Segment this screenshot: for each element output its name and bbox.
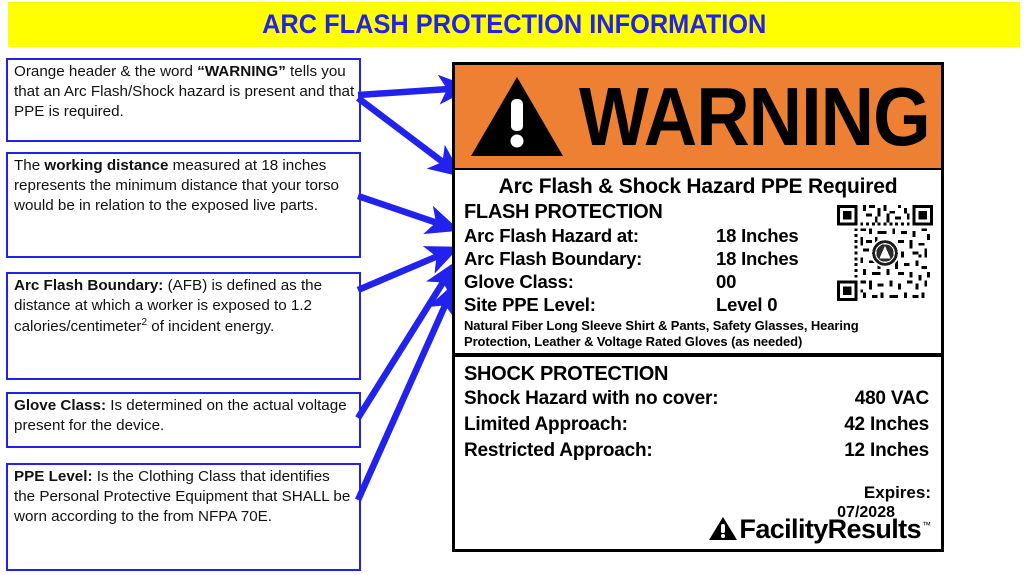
callout-bold-warning: “WARNING” xyxy=(197,63,286,80)
shock-row-key: Shock Hazard with no cover: xyxy=(464,386,855,412)
flash-row-key: Arc Flash Hazard at: xyxy=(464,224,716,247)
shock-row-value: 42 Inches xyxy=(844,412,929,438)
arrow-to-boundary xyxy=(358,250,452,290)
arrow-to-glove-class xyxy=(358,268,452,418)
shock-row: Restricted Approach: 12 Inches xyxy=(464,438,929,464)
superscript-two: 2 xyxy=(141,317,147,328)
brand-row: FacilityResults ™ xyxy=(708,516,931,543)
flash-row-key: Glove Class: xyxy=(464,270,716,293)
callout-text: Arc Flash Boundary: (AFB) is defined as … xyxy=(14,277,322,335)
shock-section-title: SHOCK PROTECTION xyxy=(464,363,929,386)
callout-text: PPE Level: Is the Clothing Class that id… xyxy=(14,468,350,525)
shock-row: Shock Hazard with no cover: 480 VAC xyxy=(464,386,929,412)
warning-triangle-icon xyxy=(469,75,565,159)
page-title-banner: ARC FLASH PROTECTION INFORMATION xyxy=(8,2,1020,47)
callout-text: Orange header & the word “WARNING” tells… xyxy=(14,63,354,120)
callout-ppe-level: PPE Level: Is the Clothing Class that id… xyxy=(6,463,361,571)
callout-text: Glove Class: Is determined on the actual… xyxy=(14,397,347,434)
arc-flash-warning-label: WARNING Arc Flash & Shock Hazard PPE Req… xyxy=(452,62,944,552)
shock-protection-block: SHOCK PROTECTION Shock Hazard with no co… xyxy=(455,357,941,464)
expires-label: Expires: xyxy=(708,483,931,503)
arrow-to-orange-header xyxy=(358,88,464,95)
callout-bold-working-distance: working distance xyxy=(44,157,168,174)
shock-row-value: 480 VAC xyxy=(855,386,929,412)
arrow-to-subheading xyxy=(358,98,456,172)
label-footer: Expires: 07/2028 FacilityResults ™ xyxy=(708,483,931,543)
callout-text: The working distance measured at 18 inch… xyxy=(14,157,339,214)
label-warning-header: WARNING xyxy=(455,65,941,170)
label-subheading: Arc Flash & Shock Hazard PPE Required xyxy=(455,170,941,201)
warning-word: WARNING xyxy=(579,75,930,158)
callout-orange-header: Orange header & the word “WARNING” tells… xyxy=(6,58,361,142)
callout-bold-glove-class: Glove Class: xyxy=(14,397,106,414)
arrow-to-hazard-at xyxy=(358,196,452,228)
shock-row-key: Restricted Approach: xyxy=(464,438,844,464)
callout-bold-afb: Arc Flash Boundary: xyxy=(14,277,163,294)
callout-bold-ppe-level: PPE Level: xyxy=(14,468,93,485)
flash-row-key: Site PPE Level: xyxy=(464,293,716,316)
shock-row-key: Limited Approach: xyxy=(464,412,844,438)
page-title: ARC FLASH PROTECTION INFORMATION xyxy=(262,9,766,40)
qr-code-icon xyxy=(837,205,933,301)
shock-row-value: 12 Inches xyxy=(844,438,929,464)
callout-arc-flash-boundary: Arc Flash Boundary: (AFB) is defined as … xyxy=(6,272,361,380)
flash-protection-block: FLASH PROTECTION Arc Flash Hazard at: 18… xyxy=(455,201,941,357)
shock-row: Limited Approach: 42 Inches xyxy=(464,412,929,438)
flash-ppe-note: Natural Fiber Long Sleeve Shirt & Pants,… xyxy=(464,318,933,349)
brand-trademark: ™ xyxy=(922,521,931,530)
callout-working-distance: The working distance measured at 18 inch… xyxy=(6,152,361,258)
flash-row-key: Arc Flash Boundary: xyxy=(464,247,716,270)
warning-triangle-icon xyxy=(708,516,738,542)
brand-name: FacilityResults xyxy=(739,516,921,543)
arrow-to-ppe-level xyxy=(358,290,452,500)
callout-glove-class: Glove Class: Is determined on the actual… xyxy=(6,392,361,448)
